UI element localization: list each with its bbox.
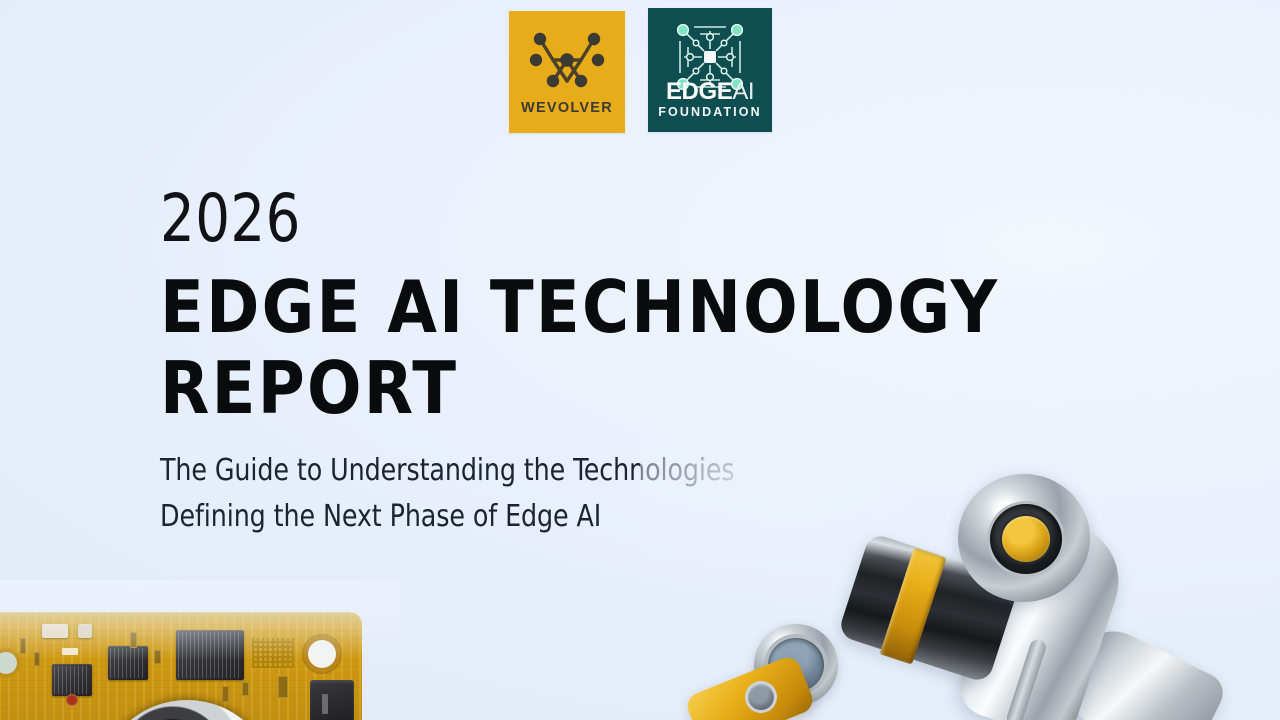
ai-text: AI: [732, 78, 754, 105]
edge-ai-wordmark-line-1: EDGEAI: [648, 80, 772, 104]
pcb-chip-small: [52, 664, 92, 696]
robot-arm-base-bolt: [748, 684, 774, 710]
pcb-connector: [310, 680, 354, 720]
pcb-smd: [20, 638, 26, 654]
pcb-pad-field: [252, 638, 294, 668]
industrial-robot-arm-photo: [690, 462, 1280, 720]
wevolver-logo[interactable]: WEVOLVER: [509, 11, 625, 133]
pcb-mounting-hole-2: [0, 652, 17, 674]
camera-lens-barrel: [98, 700, 276, 720]
wevolver-network-w-icon: [526, 31, 608, 89]
pcb-led: [66, 694, 78, 706]
pcb-smd: [222, 686, 229, 702]
report-title-line-1: EDGE AI TECHNOLOGY: [160, 272, 1110, 343]
report-title-line-2: REPORT: [160, 353, 1110, 424]
pcb-smd: [34, 652, 40, 666]
logo-row: WEVOLVER: [509, 8, 772, 134]
wevolver-wordmark: WEVOLVER: [509, 100, 625, 116]
robot-arm-main-joint-gold-core: [1002, 516, 1050, 562]
report-year: 2026: [160, 186, 1043, 252]
pcb-smd: [62, 648, 78, 655]
pcb-component-white: [42, 624, 68, 638]
edge-ai-foundation-wordmark: EDGEAI FOUNDATION: [648, 80, 772, 119]
pcb-mounting-hole: [308, 640, 336, 668]
pcb-smd: [242, 682, 249, 696]
robot-arm-yellow-base-block: [684, 654, 817, 720]
pcb-chip-mid: [108, 646, 148, 680]
pcb-chip-large: [176, 630, 244, 680]
pcb-smd: [278, 676, 288, 698]
camera-module-pcb-photo: [0, 612, 362, 720]
edge-ai-foundation-logo[interactable]: EDGEAI FOUNDATION: [648, 8, 772, 132]
foundation-text: FOUNDATION: [648, 106, 772, 119]
edge-text: EDGE: [666, 78, 732, 105]
pcb-smd: [154, 650, 161, 664]
report-cover-page: WEVOLVER: [0, 0, 1280, 720]
pcb-smd: [130, 632, 137, 648]
pcb-component-white-2: [78, 624, 92, 638]
